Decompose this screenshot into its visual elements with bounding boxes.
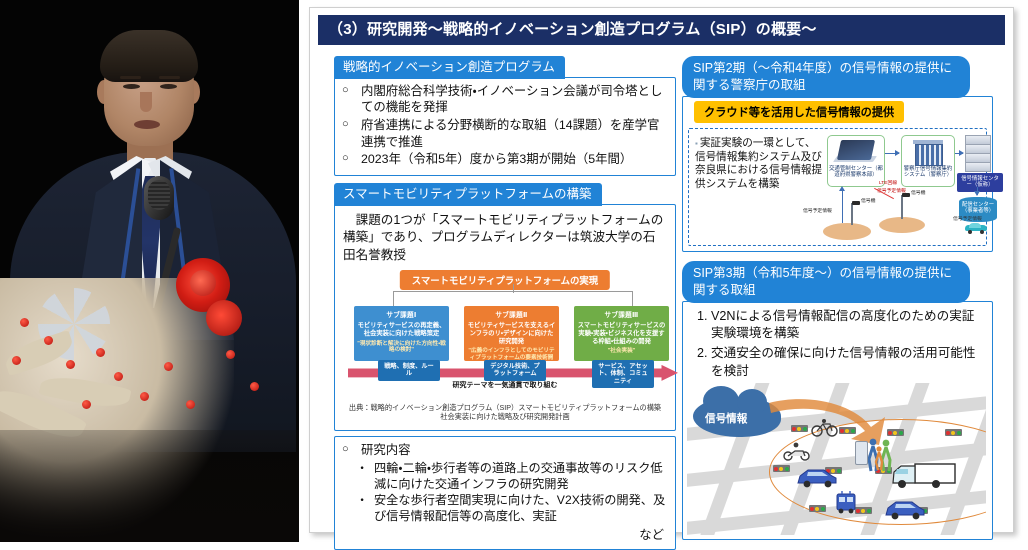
panel-sip-phase3-body: V2Nによる信号情報配信の高度化のための実証実験環境を構築 交通安全の確保に向け… (682, 301, 993, 541)
slide-header-bar: （3）研究開発～戦略的イノベーション創造プログラム（SIP）の概要～ (318, 15, 1005, 45)
photo-red-rose-center (190, 270, 216, 296)
vehicle-wheel (968, 230, 972, 234)
smp-sub-box-1-quote: "現状診断と解決に向けた方向性・戦略の検討" (354, 341, 449, 354)
panel-sip-overview-body: 内閣府総合科学技術・イノベーション会議が司令塔としての機能を発揮 府省連携による… (334, 77, 676, 176)
panel-sip-overview-title: 戦略的イノベーション創造プログラム (334, 56, 565, 79)
smp-sub-box-1-body: モビリティサービスの再定義、社会実装に向けた戦略策定 (354, 322, 449, 338)
npa-aggregation-node: 警察庁信号情報集約システム（警察庁） (901, 135, 955, 187)
cloud-signal-badge: クラウド等を活用した信号情報の提供 (694, 101, 904, 123)
vehicle-wheel (980, 230, 984, 234)
signal-info-center-label: 信号情報センター（仮称） (957, 173, 1003, 192)
photo-nose (140, 92, 152, 112)
signal-pole-2 (901, 195, 903, 219)
sip-overview-list: 内閣府総合科学技術・イノベーション会議が司令塔としての機能を発揮 府省連携による… (342, 83, 668, 168)
screenshot-root: （3）研究開発～戦略的イノベーション創造プログラム（SIP）の概要～ 戦略的イノ… (0, 0, 1028, 542)
smp-diagram-connector (393, 291, 633, 306)
smp-tag-1: 戦略、制度、ルール (378, 360, 440, 381)
intersection-ellipse-1 (823, 223, 871, 240)
smp-sub-box-2: サブ課題Ⅱ モビリティサービスを支えるインフラのリ・デザインに向けた研究開発 "… (464, 306, 559, 361)
smp-sub-box-1: サブ課題Ⅰ モビリティサービスの再定義、社会実装に向けた戦略策定 "現状診断と解… (354, 306, 449, 361)
photo-berry (82, 400, 91, 409)
panel-research-content-body: 研究内容 四輪・二輪・歩行者等の道路上の交通事故等のリスク低減に向けた交通インフ… (334, 436, 676, 550)
sip-phase3-list: V2Nによる信号情報配信の高度化のための実証実験環境を構築 交通安全の確保に向け… (687, 308, 986, 382)
smp-diagram-source: 出典：戦略的イノベーション創造プログラム（SIP）スマートモビリティプラットフォ… (342, 403, 668, 421)
server-unit-icon (965, 162, 991, 172)
truck-icon (891, 461, 957, 491)
photo-berry (96, 348, 105, 357)
photo-berry (250, 382, 259, 391)
signal-pole-1 (851, 203, 853, 225)
list-item: 府省連携による分野横断的な取組（14課題）を産学官連携で推進 (342, 117, 668, 150)
signal-device-label-2: 信号機 (911, 191, 925, 197)
photo-microphone-grille (148, 180, 170, 210)
vehicle-cabin (969, 223, 981, 228)
smp-diagram-caption: 研究テーマを一気通貫で取り組む (342, 380, 668, 390)
list-item: 安全な歩行者空間実現に向けた、V2X技術の開発、及び信号情報配信等の高度化、実証 (356, 492, 668, 524)
arrow-node3-to-node4 (977, 187, 978, 195)
signal-head-1 (852, 201, 860, 205)
roadside-signal-label: 信号予定情報 (953, 217, 982, 223)
list-item: 2023年（令和5年）度から第3期が開始（5年間） (342, 151, 668, 168)
bus-icon (833, 489, 859, 515)
building-icon (915, 144, 943, 166)
traffic-control-center-label: 交通管制センター（都道府県警察本部） (828, 166, 884, 179)
slide-right-column: SIP第2期（～令和4年度）の信号情報の提供に関する警察庁の取組 クラウド等を活… (682, 56, 993, 540)
smp-diagram: スマートモビリティプラットフォームの実現 サブ課題Ⅰ モビリティサービスの再定義… (342, 268, 668, 390)
signal-device-label-1: 信号機 (861, 199, 875, 205)
lte-line-label: LTE回線 (879, 181, 897, 187)
smp-sub-box-3-body: スマートモビリティサービスの実験・実装・ビジネス化を支援する枠組・仕組みの開発 (574, 322, 669, 345)
smp-sub-box-3-heading: サブ課題Ⅲ (574, 309, 669, 319)
car-icon (883, 499, 927, 521)
list-item: V2Nによる信号情報配信の高度化のための実証実験環境を構築 (711, 308, 986, 344)
research-heading-list: 研究内容 (342, 442, 668, 459)
panel-sip-phase3-title: SIP第3期（令和5年度～）の信号情報の提供に関する取組 (682, 261, 970, 303)
presentation-slide: （3）研究開発～戦略的イノベーション創造プログラム（SIP）の概要～ 戦略的イノ… (309, 7, 1014, 533)
traffic-light-icon (887, 429, 904, 436)
scooter-icon (783, 441, 811, 461)
cloud-signal-diagram-frame: 実証実験の一環として、信号情報集約システム及び奈良県における信号情報提供システム… (688, 128, 987, 246)
panel-sip-phase2-title: SIP第2期（～令和4年度）の信号情報の提供に関する警察庁の取組 (682, 56, 970, 98)
panel-sip-phase2-body: クラウド等を活用した信号情報の提供 実証実験の一環として、信号情報集約システム及… (682, 96, 993, 252)
panel-research-content: 研究内容 四輪・二輪・歩行者等の道路上の交通事故等のリスク低減に向けた交通インフ… (334, 436, 676, 550)
photo-berry (44, 336, 53, 345)
panel-sip-phase2: SIP第2期（～令和4年度）の信号情報の提供に関する警察庁の取組 クラウド等を活… (682, 56, 993, 252)
list-item: 四輪・二輪・歩行者等の道路上の交通事故等のリスク低減に向けた交通インフラの研究開… (356, 460, 668, 492)
photo-hair (100, 30, 198, 82)
signal-info-server-node (963, 135, 993, 169)
panel-smart-mobility-title: スマートモビリティプラットフォームの構築 (334, 183, 602, 206)
traffic-light-icon (809, 505, 826, 512)
list-item: 内閣府総合科学技術・イノベーション会議が司令塔としての機能を発揮 (342, 83, 668, 116)
laptop-screen-icon (837, 140, 875, 160)
smp-diagram-top-box: スマートモビリティプラットフォームの実現 (400, 270, 610, 290)
signal-info-road-diagram: 信号情報 (687, 383, 986, 535)
traffic-control-center-node: 交通管制センター（都道府県警察本部） (827, 135, 885, 187)
slide-left-column: 戦略的イノベーション創造プログラム 内閣府総合科学技術・イノベーション会議が司令… (334, 56, 676, 550)
panel-sip-phase3: SIP第3期（令和5年度～）の信号情報の提供に関する取組 V2Nによる信号情報配… (682, 261, 993, 540)
photo-berry (66, 360, 75, 369)
smp-sub-box-3: サブ課題Ⅲ スマートモビリティサービスの実験・実装・ビジネス化を支援する枠組・仕… (574, 306, 669, 361)
photo-berry (114, 372, 123, 381)
arrow-roadside-to-node1 (842, 191, 843, 223)
npa-aggregation-label: 警察庁信号情報集約システム（警察庁） (902, 166, 954, 179)
signal-info-cloud-label: 信号情報 (705, 411, 747, 426)
traffic-light-icon (791, 425, 808, 432)
traffic-light-icon (945, 429, 962, 436)
speaker-photo (0, 0, 299, 542)
cloud-signal-diagram: 実証実験の一環として、信号情報集約システム及び奈良県における信号情報提供システム… (691, 131, 984, 243)
photo-red-rose-2 (206, 300, 242, 336)
smp-sub-box-2-body: モビリティサービスを支えるインフラのリ・デザインに向けた研究開発 (464, 322, 559, 345)
research-heading: 研究内容 (342, 442, 668, 459)
traffic-light-icon (839, 427, 856, 434)
photo-berry (20, 318, 29, 327)
smp-tag-2: デジタル技術、プラットフォーム (484, 360, 546, 381)
signal-schedule-label-1: 信号予定情報 (803, 209, 832, 215)
smp-sub-box-1-heading: サブ課題Ⅰ (354, 309, 449, 319)
panel-smart-mobility-body: 課題の1つが「スマートモビリティプラットフォームの構築」であり、プログラムディレ… (334, 204, 676, 431)
photo-berry (140, 392, 149, 401)
panel-smart-mobility: スマートモビリティプラットフォームの構築 課題の1つが「スマートモビリティプラッ… (334, 183, 676, 431)
photo-foreground-shadow (0, 430, 299, 542)
traffic-light-icon (773, 465, 790, 472)
smp-connector-stem (513, 284, 514, 293)
intersection-ellipse-2 (879, 217, 925, 233)
vehicle-icon (963, 223, 989, 234)
photo-eye-right (160, 84, 177, 89)
photo-eyebrow-right (159, 76, 180, 79)
cloud-signal-description: 実証実験の一環として、信号情報集約システム及び奈良県における信号情報提供システム… (695, 137, 823, 192)
car-icon (795, 467, 839, 489)
arrow-node2-to-node3 (955, 153, 963, 154)
photo-berry (226, 350, 235, 359)
research-etc-label: など (342, 525, 668, 543)
photo-eyebrow-left (120, 76, 141, 79)
bicycle-icon (811, 419, 839, 437)
photo-eye-left (123, 84, 140, 89)
slide-title: （3）研究開発～戦略的イノベーション創造プログラム（SIP）の概要～ (318, 15, 1005, 45)
photo-berry (186, 400, 195, 409)
panel-sip-overview: 戦略的イノベーション創造プログラム 内閣府総合科学技術・イノベーション会議が司令… (334, 56, 676, 176)
photo-berry (164, 362, 173, 371)
smp-sub-box-3-quote: "社会実装" (574, 348, 669, 355)
pedestrian-signal-icon (855, 441, 868, 465)
smp-sub-box-2-heading: サブ課題Ⅱ (464, 309, 559, 319)
photo-berry (12, 356, 21, 365)
list-item: 交通安全の確保に向けた信号情報の活用可能性を検討 (711, 345, 986, 381)
arrow-node1-to-node2 (885, 153, 899, 154)
smart-mobility-paragraph: 課題の1つが「スマートモビリティプラットフォームの構築」であり、プログラムディレ… (343, 212, 667, 264)
photo-mouth (134, 120, 160, 129)
research-items-list: 四輪・二輪・歩行者等の道路上の交通事故等のリスク低減に向けた交通インフラの研究開… (342, 460, 668, 525)
